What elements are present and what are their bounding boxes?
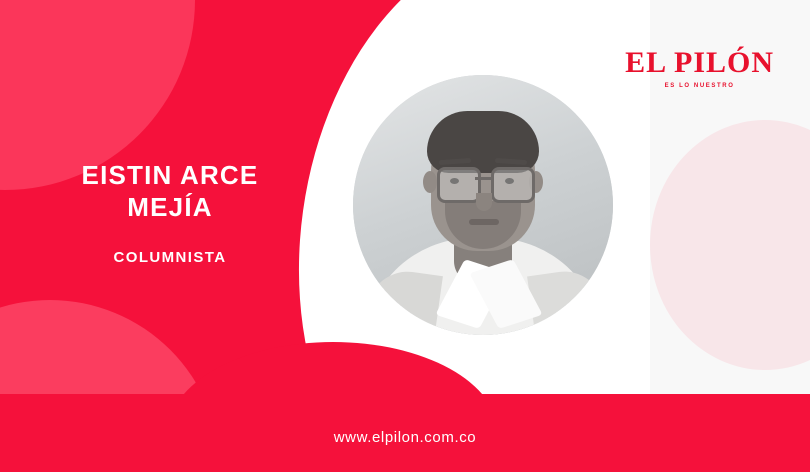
columnist-info: EISTIN ARCE MEJÍA COLUMNISTA: [0, 160, 340, 266]
portrait-mouth: [469, 219, 499, 225]
portrait-eyeglass-left: [437, 167, 481, 203]
site-url[interactable]: www.elpilon.com.co: [0, 429, 810, 446]
portrait-eyeglass-bridge: [475, 177, 491, 180]
brand-logo: EL PILÓN ES LO NUESTRO: [625, 48, 774, 89]
columnist-role: COLUMNISTA: [0, 249, 340, 266]
portrait-eyeglass-right: [491, 167, 535, 203]
columnist-banner: EL PILÓN ES LO NUESTRO EISTIN ARCE MEJÍA…: [0, 0, 810, 472]
columnist-name-line-1: EISTIN ARCE: [0, 160, 340, 192]
portrait-photo: [353, 75, 613, 335]
portrait-nose: [476, 193, 492, 211]
brand-logo-tagline: ES LO NUESTRO: [625, 83, 774, 89]
columnist-name-line-2: MEJÍA: [0, 192, 340, 224]
brand-logo-text: EL PILÓN: [625, 48, 774, 78]
portrait-ear-left: [423, 171, 437, 193]
